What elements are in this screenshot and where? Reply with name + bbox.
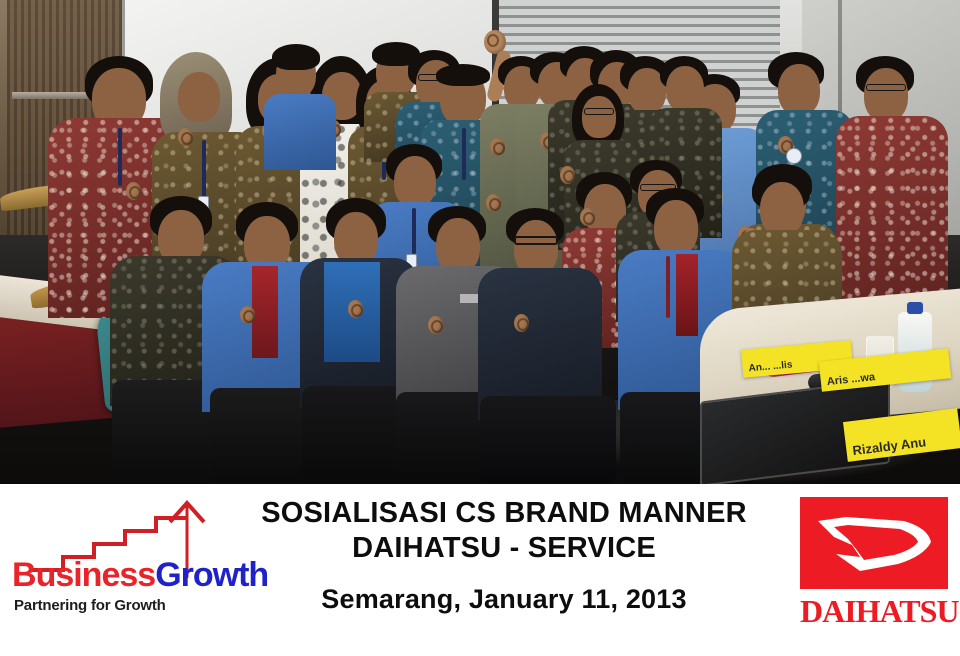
wall-edge xyxy=(0,0,7,258)
name-card-2-text: Aris ...wa xyxy=(826,371,875,388)
banner-subtitle: Semarang, January 11, 2013 xyxy=(224,584,784,615)
banner-title-line2: DAIHATSU - SERVICE xyxy=(224,531,784,566)
banner-title-line1: SOSIALISASI CS BRAND MANNER xyxy=(224,496,784,531)
logo-word-usiness: usiness xyxy=(36,556,156,594)
business-growth-tagline: Partnering for Growth xyxy=(14,597,166,614)
caption-banner: BusinessGrowth Partnering for Growth SOS… xyxy=(0,484,960,656)
name-card-3-text: An... ...lis xyxy=(748,359,793,374)
daihatsu-red-box xyxy=(800,497,948,589)
daihatsu-wordmark: DAIHATSU xyxy=(800,593,948,630)
poster-root: An... ...lis Aris ...wa Rizaldy Anu Busi… xyxy=(0,0,960,656)
group-photo: An... ...lis Aris ...wa Rizaldy Anu xyxy=(0,0,960,484)
logo-word-b: B xyxy=(12,556,36,594)
logo-word-g: G xyxy=(155,556,180,594)
daihatsu-logo: DAIHATSU xyxy=(800,497,948,637)
business-growth-logo: BusinessGrowth Partnering for Growth xyxy=(8,500,223,620)
daihatsu-d-emblem-icon xyxy=(812,509,936,577)
banner-titles: SOSIALISASI CS BRAND MANNER DAIHATSU - S… xyxy=(224,496,784,615)
